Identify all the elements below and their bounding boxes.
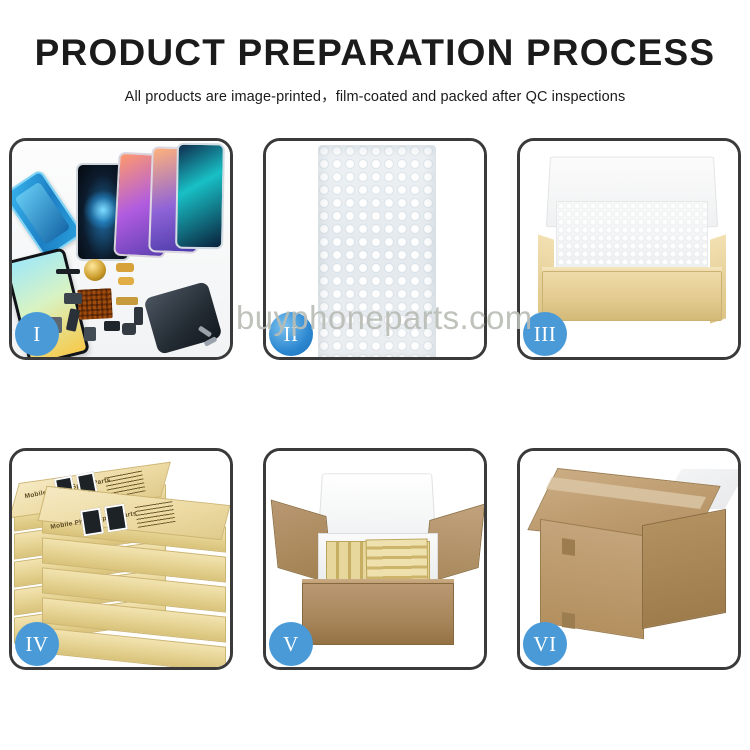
box-phone-graphic-icon (80, 508, 104, 537)
process-step-6[interactable]: VI (517, 448, 741, 670)
infographic-page: PRODUCT PREPARATION PROCESS All products… (0, 0, 750, 750)
step-badge-1: I (15, 312, 59, 356)
spare-part-icon (56, 269, 80, 274)
spare-part-icon (134, 307, 143, 325)
process-step-3[interactable]: III (517, 138, 741, 360)
page-subtitle: All products are image-printed，film-coat… (0, 85, 750, 106)
chip-grid-part-icon (77, 288, 113, 320)
blue-screen-film-icon (12, 169, 84, 259)
carton-body-icon (302, 583, 454, 645)
process-step-4[interactable]: Mobile Phone Spare Parts Mobile Phone Sp… (9, 448, 233, 670)
step-badge-3: III (523, 312, 567, 356)
header: PRODUCT PREPARATION PROCESS All products… (0, 0, 750, 106)
step-badge-6: VI (523, 622, 567, 666)
carton-seal-icon (562, 612, 575, 629)
process-step-2[interactable]: II (263, 138, 487, 360)
carton-front-face-icon (540, 519, 644, 639)
kraft-box-front-icon (542, 271, 722, 321)
spare-part-icon (118, 277, 134, 285)
foam-cooler-lid-icon (318, 473, 436, 537)
box-phone-graphic-icon (104, 504, 128, 533)
process-step-5[interactable]: V (263, 448, 487, 670)
page-title: PRODUCT PREPARATION PROCESS (0, 34, 750, 73)
spare-part-icon (64, 293, 82, 304)
spare-part-icon (84, 327, 96, 341)
process-step-grid: I II (9, 138, 741, 690)
gold-coil-part-icon (84, 259, 106, 281)
carton-side-face-icon (642, 509, 726, 629)
spare-part-icon (122, 323, 136, 335)
bubble-wrap-icon (318, 145, 436, 357)
spare-part-icon (116, 297, 138, 305)
phone-display-teal-icon (175, 143, 225, 250)
process-step-1[interactable]: I (9, 138, 233, 360)
step-badge-5: V (269, 622, 313, 666)
spare-part-icon (116, 263, 134, 272)
spare-part-icon (104, 321, 120, 331)
step-badge-2: II (269, 312, 313, 356)
step-badge-4: IV (15, 622, 59, 666)
carton-seal-icon (562, 538, 575, 556)
